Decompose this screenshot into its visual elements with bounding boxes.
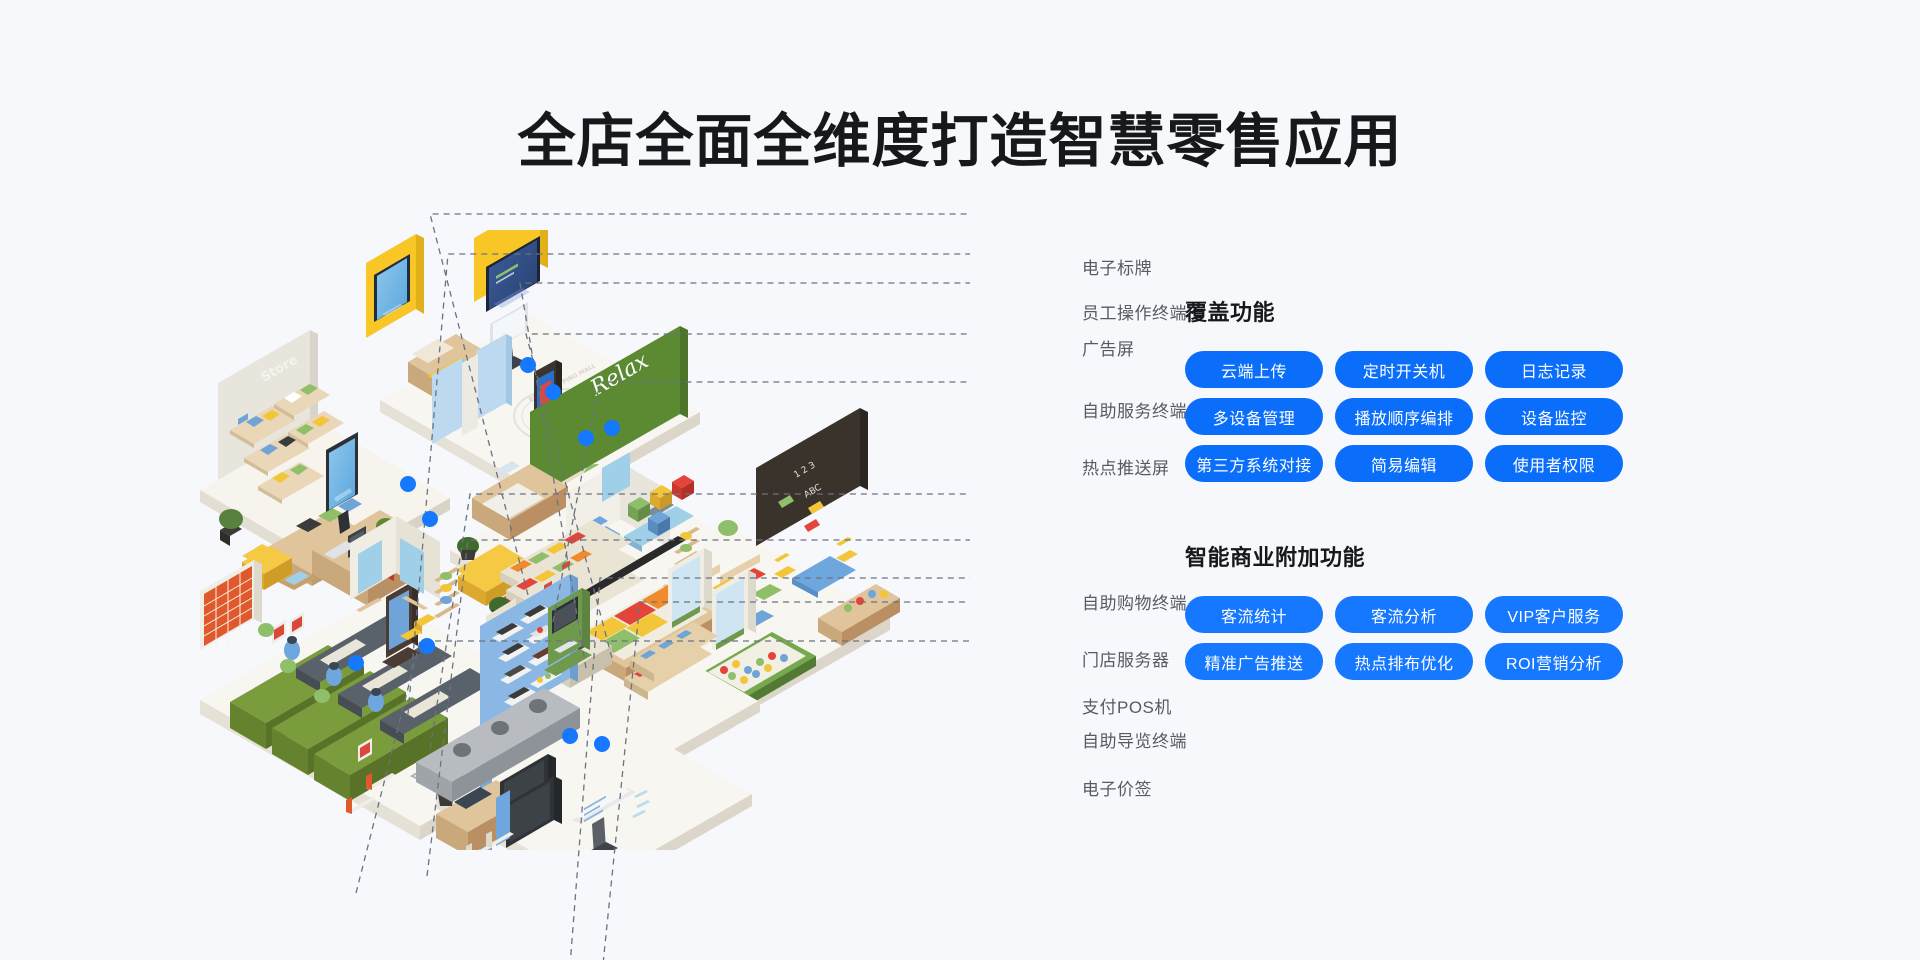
chip-grid-smart-business-addons: 客流统计客流分析VIP客户服务精准广告推送热点排布优化ROI营销分析: [1185, 596, 1655, 680]
feature-panel: 覆盖功能云端上传定时开关机日志记录多设备管理播放顺序编排设备监控第三方系统对接简…: [1185, 295, 1655, 738]
feature-chip[interactable]: 简易编辑: [1335, 445, 1473, 482]
feature-chip[interactable]: 客流分析: [1335, 596, 1473, 633]
feature-chip[interactable]: 热点排布优化: [1335, 643, 1473, 680]
feature-chip[interactable]: 日志记录: [1485, 351, 1623, 388]
callout-label-hotspot-push-screen: 热点推送屏: [1082, 454, 1170, 479]
advertising-panel-a: [366, 234, 424, 338]
feature-chip[interactable]: 播放顺序编排: [1335, 398, 1473, 435]
feature-chip[interactable]: 使用者权限: [1485, 445, 1623, 482]
page-title: 全店全面全维度打造智慧零售应用: [0, 94, 1920, 178]
callout-label-staff-terminal: 员工操作终端: [1082, 299, 1187, 324]
advertising-panel-b: [474, 230, 548, 312]
feature-chip[interactable]: 多设备管理: [1185, 398, 1323, 435]
feature-chip[interactable]: 定时开关机: [1335, 351, 1473, 388]
callout-label-electronic-price-tag: 电子价签: [1082, 775, 1152, 800]
callout-label-advertising-screen: 广告屏: [1082, 335, 1135, 360]
feature-chip[interactable]: 精准广告推送: [1185, 643, 1323, 680]
callout-label-electronic-signage: 电子标牌: [1082, 254, 1152, 279]
panel-section-coverage-features: 覆盖功能云端上传定时开关机日志记录多设备管理播放顺序编排设备监控第三方系统对接简…: [1185, 295, 1655, 482]
parcel-lockers: [200, 560, 262, 651]
chip-grid-coverage-features: 云端上传定时开关机日志记录多设备管理播放顺序编排设备监控第三方系统对接简易编辑使…: [1185, 351, 1655, 482]
callout-label-payment-pos: 支付POS机: [1082, 693, 1172, 718]
feature-chip[interactable]: 云端上传: [1185, 351, 1323, 388]
feature-chip[interactable]: 第三方系统对接: [1185, 445, 1323, 482]
feature-chip[interactable]: 设备监控: [1485, 398, 1623, 435]
panel-heading-smart-business-addons: 智能商业附加功能: [1185, 540, 1655, 572]
panel-section-smart-business-addons: 智能商业附加功能客流统计客流分析VIP客户服务精准广告推送热点排布优化ROI营销…: [1185, 540, 1655, 680]
panel-heading-coverage-features: 覆盖功能: [1185, 295, 1655, 327]
feature-chip[interactable]: ROI营销分析: [1485, 643, 1623, 680]
callout-label-self-guide-terminal: 自助导览终端: [1082, 727, 1187, 752]
callout-label-self-shopping-kiosk: 自助购物终端: [1082, 589, 1187, 614]
feature-chip[interactable]: VIP客户服务: [1485, 596, 1623, 633]
isometric-store-illustration: Store: [200, 230, 960, 850]
callout-label-store-server: 门店服务器: [1082, 646, 1170, 671]
callout-label-self-service-kiosk: 自助服务终端: [1082, 397, 1187, 422]
feature-chip[interactable]: 客流统计: [1185, 596, 1323, 633]
